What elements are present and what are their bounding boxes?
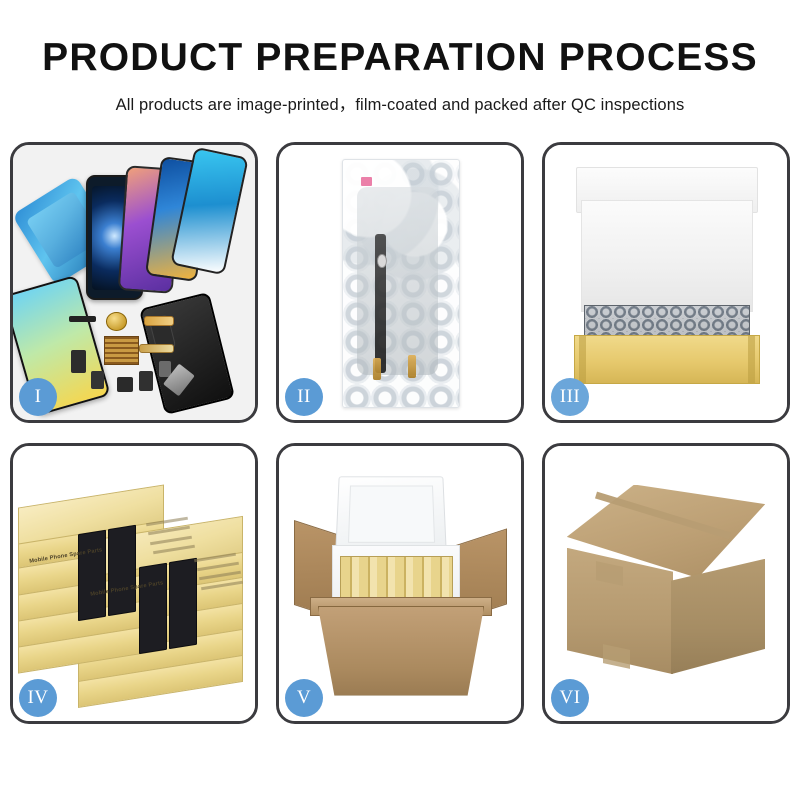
part-chip-grid (104, 336, 139, 366)
kraft-box-tray (574, 335, 760, 384)
process-step-card-5[interactable]: V (276, 443, 524, 724)
process-step-card-3[interactable]: III (542, 142, 790, 423)
page-header: PRODUCT PREPARATION PROCESS All products… (0, 0, 800, 115)
bubble-wrap-bag (342, 159, 460, 409)
carton-body (318, 606, 485, 696)
carton-with-foam-cooler-image (279, 446, 521, 721)
step-badge-6: VI (551, 679, 589, 717)
white-foam-sheet (581, 200, 752, 312)
spare-parts-cluster (66, 310, 192, 409)
step-badge-2: II (285, 378, 323, 416)
process-step-card-4[interactable]: Mobile Phone Spare Parts Mobile Phone Sp… (10, 443, 258, 724)
qc-sticker (361, 177, 371, 186)
bubble-wrapped-screen-image (279, 145, 521, 420)
part-flex-cable-1 (144, 316, 174, 326)
step-badge-4: IV (19, 679, 57, 717)
box-window-1b (108, 525, 136, 616)
process-steps-grid: I II III (10, 142, 790, 724)
box-stack: Mobile Phone Spare Parts Mobile Phone Sp… (18, 468, 250, 705)
part-small-2 (91, 371, 104, 389)
step-badge-1: I (19, 378, 57, 416)
process-step-card-1[interactable]: I (10, 142, 258, 423)
step-badge-5: V (285, 679, 323, 717)
part-speaker-bar (69, 316, 97, 322)
screen-assembly (357, 187, 438, 375)
camera-module (377, 254, 387, 268)
foam-cooler-lid (335, 476, 447, 553)
stacked-retail-boxes-image: Mobile Phone Spare Parts Mobile Phone Sp… (13, 446, 255, 721)
product-preparation-process-page: PRODUCT PREPARATION PROCESS All products… (0, 0, 800, 800)
carton-side-face (671, 559, 765, 675)
process-step-card-2[interactable]: II (276, 142, 524, 423)
sealed-shipping-carton-image (545, 446, 787, 721)
page-title: PRODUCT PREPARATION PROCESS (0, 38, 800, 79)
gold-connector-1 (373, 358, 381, 380)
part-flex-cable-2 (139, 344, 174, 353)
gold-connector-2 (408, 355, 416, 377)
foam-lined-kraft-box-image (545, 145, 787, 420)
page-subtitle: All products are image-printed，film-coat… (0, 91, 800, 115)
part-small-4 (139, 371, 153, 391)
box-window-2a (139, 563, 167, 654)
part-gold-coil (106, 312, 127, 331)
phone-parts-collage-image (13, 145, 255, 420)
part-small-3 (117, 377, 133, 392)
step-badge-3: III (551, 378, 589, 416)
box-window-2b (169, 558, 197, 649)
process-step-card-6[interactable]: VI (542, 443, 790, 724)
box-window-1a (78, 530, 106, 621)
part-small-1 (71, 350, 86, 374)
